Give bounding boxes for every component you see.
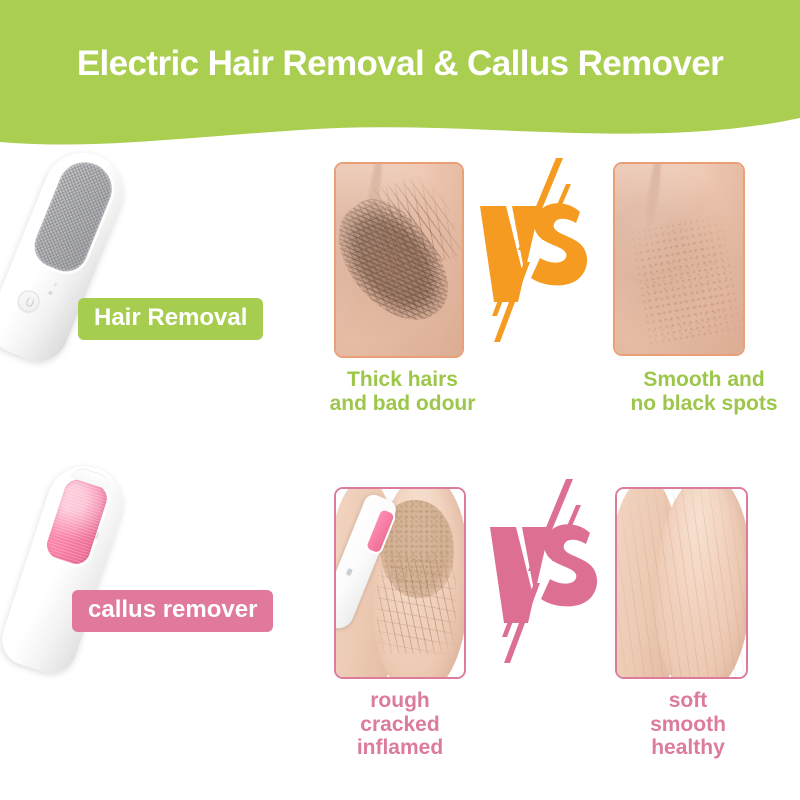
after-photo-underarm: [613, 162, 745, 356]
sole-line-texture: [617, 489, 746, 677]
page-title: Electric Hair Removal & Callus Remover: [0, 44, 800, 84]
callus-remover-device-area: callus remover: [0, 445, 320, 785]
electric-callus-remover-device: [0, 456, 133, 679]
skin-shading-layer: [336, 164, 462, 356]
hair-removal-device-area: Hair Removal: [0, 140, 320, 440]
device-vent-slot-small: [346, 568, 354, 576]
vs-badge-orange: [478, 154, 598, 354]
section-hair-removal: Hair Removal Thick hairs and bad odour: [0, 140, 800, 440]
after-caption-feet: soft smooth healthy: [612, 689, 764, 760]
callus-remover-label: callus remover: [72, 590, 273, 632]
photo-content-smooth-underarm: [615, 164, 743, 354]
before-photo-underarm: [334, 162, 464, 358]
before-caption-hair: Thick hairs and bad odour: [320, 368, 485, 415]
heel-crack-texture: [377, 553, 456, 655]
after-photo-foot: [615, 487, 748, 679]
hair-removal-label: Hair Removal: [78, 298, 263, 340]
callus-remover-comparison: rough cracked inflamed: [320, 445, 800, 785]
after-caption-hair: Smooth and no black spots: [608, 368, 800, 415]
skin-shading-layer: [615, 164, 743, 354]
photo-content-hairy-underarm: [336, 164, 462, 356]
photo-content-cracked-heel: [336, 489, 464, 677]
vs-badge-pink: [488, 475, 608, 675]
photo-content-smooth-foot: [617, 489, 746, 677]
product-infographic: Electric Hair Removal & Callus Remover H…: [0, 0, 800, 800]
before-photo-heel: [334, 487, 466, 679]
section-callus-remover: callus remover rough cracked inflamed: [0, 445, 800, 785]
before-caption-feet: rough cracked inflamed: [326, 689, 474, 760]
hair-removal-comparison: Thick hairs and bad odour: [320, 140, 800, 440]
